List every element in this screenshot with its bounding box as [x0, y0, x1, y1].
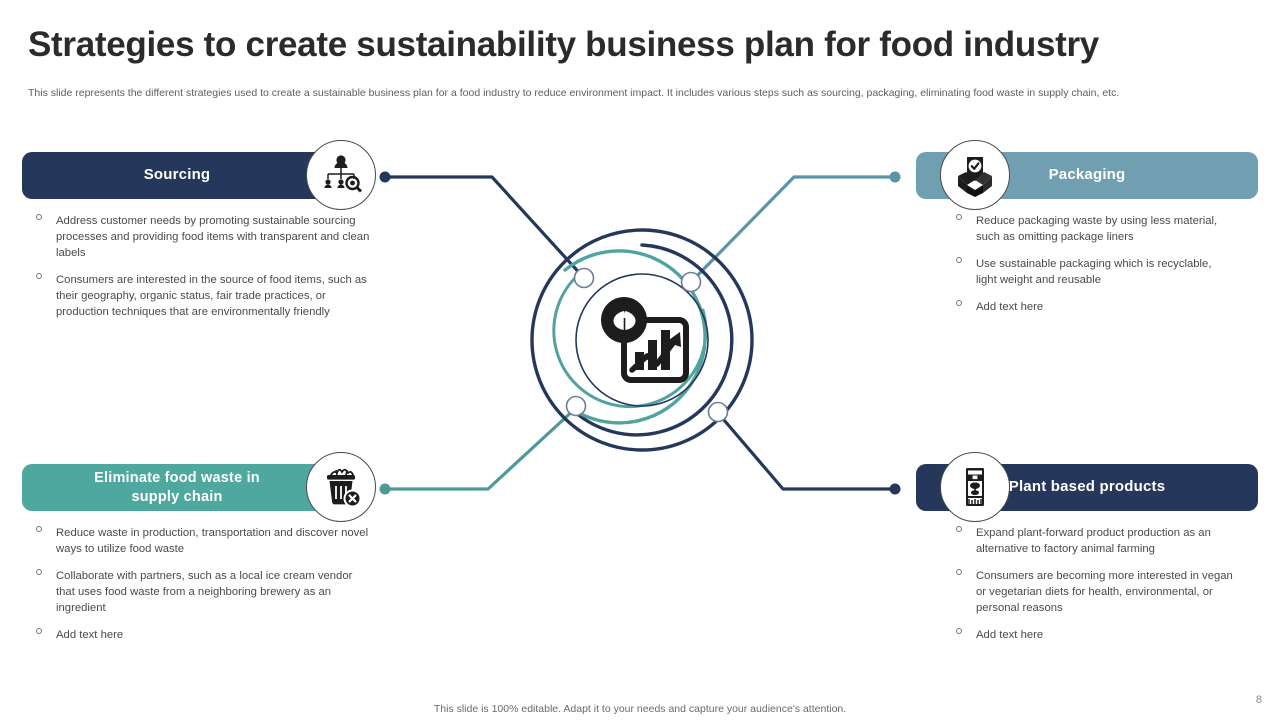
list-item: Consumers are interested in the source o…	[34, 272, 374, 320]
plant-bullets: Expand plant-forward product production …	[954, 525, 1234, 643]
list-item: Collaborate with partners, such as a loc…	[34, 568, 374, 616]
bullet-marker	[956, 257, 962, 263]
bullet-marker	[956, 300, 962, 306]
list-item-text: Address customer needs by promoting sust…	[56, 215, 369, 259]
list-item-text: Use sustainable packaging which is recyc…	[976, 258, 1211, 286]
list-item-text: Add text here	[976, 301, 1043, 313]
list-item: Consumers are becoming more interested i…	[954, 568, 1234, 616]
plant-header-bar[interactable]: Plant based products	[916, 464, 1258, 511]
list-item: Add text here	[954, 299, 1234, 315]
list-item: Address customer needs by promoting sust…	[34, 213, 374, 261]
list-item: Add text here	[954, 627, 1234, 643]
bullet-marker	[36, 569, 42, 575]
list-item: Add text here	[34, 627, 374, 643]
list-item-text: Add text here	[56, 629, 123, 641]
list-item-text: Collaborate with partners, such as a loc…	[56, 570, 352, 614]
growth-chart-leaf-icon	[601, 297, 686, 380]
panel-sourcing: Sourcing Address customer needs by promo	[22, 152, 422, 331]
bullet-marker	[36, 526, 42, 532]
bullet-marker	[956, 628, 962, 634]
page-number: 8	[1256, 694, 1262, 706]
page-title: Strategies to create sustainability busi…	[28, 26, 1258, 65]
packaging-title: Packaging	[1049, 166, 1126, 185]
eliminate-bullets: Reduce waste in production, transportati…	[34, 525, 374, 643]
bullet-marker	[36, 273, 42, 279]
page-subtitle: This slide represents the different stra…	[28, 86, 1228, 101]
eliminate-title: Eliminate food waste in supply chain	[78, 469, 276, 505]
footer-note: This slide is 100% editable. Adapt it to…	[0, 703, 1280, 715]
list-item-text: Consumers are becoming more interested i…	[976, 570, 1233, 614]
panel-plant-based-products: Plant based products Expand plant-forwar…	[858, 464, 1258, 654]
list-item: Expand plant-forward product production …	[954, 525, 1234, 557]
sourcing-header-bar[interactable]: Sourcing	[22, 152, 332, 199]
list-item: Reduce waste in production, transportati…	[34, 525, 374, 557]
eliminate-header-bar[interactable]: Eliminate food waste in supply chain	[22, 464, 332, 511]
trash-bin-remove-icon	[306, 452, 376, 522]
list-item-text: Add text here	[976, 629, 1043, 641]
bullet-marker	[36, 628, 42, 634]
bullet-marker	[36, 214, 42, 220]
panel-eliminate-food-waste: Eliminate food waste in supply chain Red…	[22, 464, 422, 654]
verified-package-box-icon	[940, 140, 1010, 210]
sourcing-title: Sourcing	[144, 166, 211, 185]
packaging-bullets: Reduce packaging waste by using less mat…	[954, 213, 1234, 315]
list-item: Reduce packaging waste by using less mat…	[954, 213, 1234, 245]
bullet-marker	[956, 526, 962, 532]
org-chart-search-icon	[306, 140, 376, 210]
plant-title: Plant based products	[1009, 478, 1166, 497]
list-item-text: Expand plant-forward product production …	[976, 527, 1211, 555]
list-item: Use sustainable packaging which is recyc…	[954, 256, 1234, 288]
plant-carton-icon	[940, 452, 1010, 522]
list-item-text: Consumers are interested in the source o…	[56, 274, 367, 318]
panel-packaging: Packaging Reduce packaging waste by usin…	[858, 152, 1258, 326]
list-item-text: Reduce waste in production, transportati…	[56, 527, 368, 555]
bullet-marker	[956, 569, 962, 575]
bullet-marker	[956, 214, 962, 220]
packaging-header-bar[interactable]: Packaging	[916, 152, 1258, 199]
list-item-text: Reduce packaging waste by using less mat…	[976, 215, 1217, 243]
center-diagram	[370, 150, 910, 510]
sourcing-bullets: Address customer needs by promoting sust…	[34, 213, 374, 320]
